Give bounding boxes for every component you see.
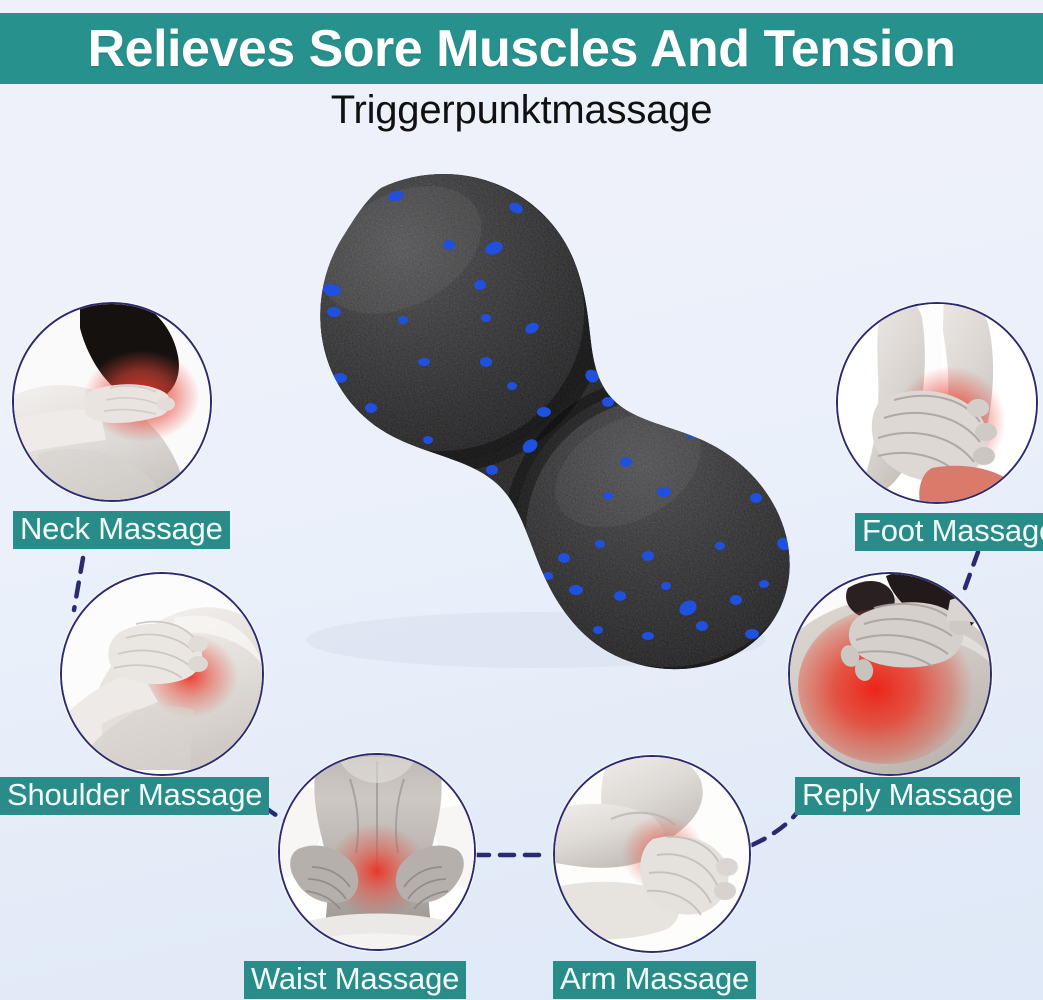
- bubble-arm[interactable]: [553, 755, 751, 953]
- badge-reply: Reply Massage: [795, 777, 1020, 815]
- ball-body: [196, 140, 866, 670]
- product-infographic-poster: Relieves Sore Muscles And Tension Trigge…: [0, 0, 1043, 1000]
- bubble-foot[interactable]: [836, 302, 1038, 504]
- header-banner: Relieves Sore Muscles And Tension: [0, 13, 1043, 84]
- product-image: [196, 140, 866, 670]
- badge-waist: Waist Massage: [244, 961, 466, 999]
- bubble-reply[interactable]: [788, 572, 992, 776]
- badge-neck: Neck Massage: [13, 511, 230, 549]
- foot-massage-photo: [838, 304, 1036, 502]
- bubble-neck[interactable]: [12, 302, 212, 502]
- bubble-waist[interactable]: [278, 753, 476, 951]
- badge-foot: Foot Massage: [855, 513, 1043, 551]
- arm-massage-photo: [555, 757, 749, 951]
- bubble-shoulder[interactable]: [60, 572, 264, 776]
- banner-title: Relieves Sore Muscles And Tension: [88, 23, 956, 75]
- neck-massage-photo: [14, 304, 210, 500]
- reply-massage-photo: [790, 574, 990, 774]
- peanut-massage-ball-svg: [196, 140, 866, 670]
- waist-massage-photo: [280, 755, 474, 949]
- badge-arm: Arm Massage: [553, 961, 756, 999]
- badge-shoulder: Shoulder Massage: [0, 777, 269, 815]
- shoulder-massage-photo: [62, 574, 262, 774]
- subtitle-text: Triggerpunktmassage: [0, 86, 1043, 134]
